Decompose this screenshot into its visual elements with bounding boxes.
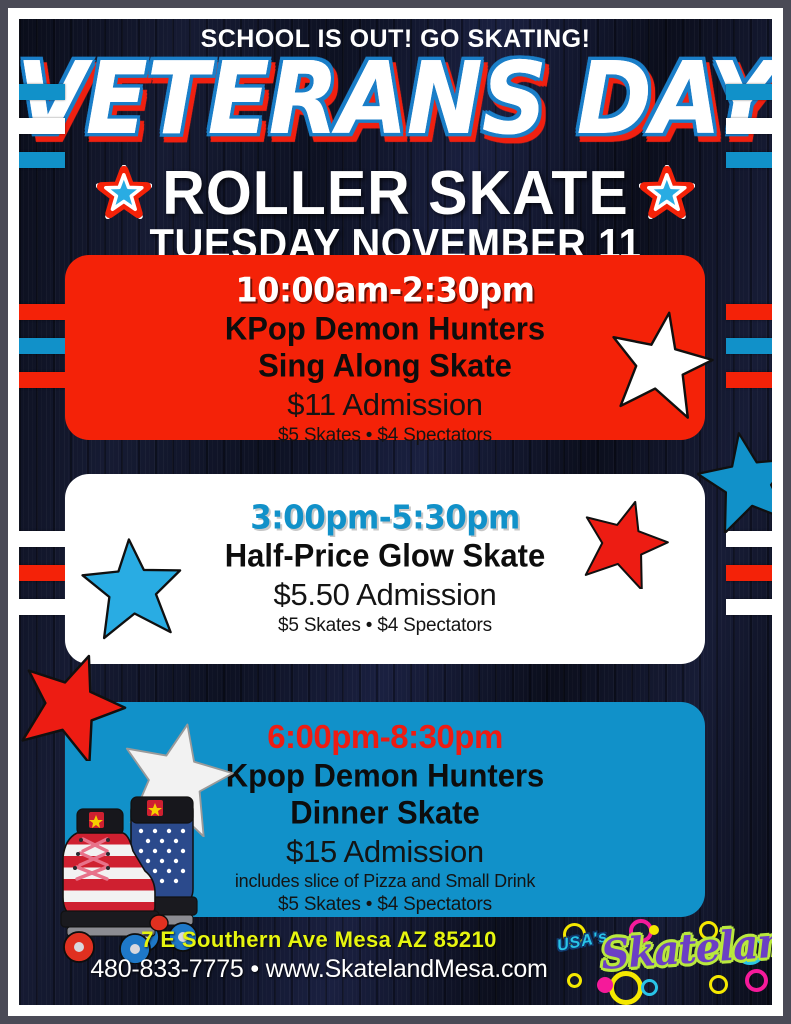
star-badge-right-icon — [639, 165, 695, 221]
stripe — [19, 599, 65, 615]
session-time: 10:00am-2:30pm — [65, 270, 705, 310]
session-sub: $5 Skates • $4 Spectators — [65, 425, 705, 447]
stripe — [726, 372, 772, 388]
logo-bubble-icon — [567, 973, 582, 988]
stripe — [19, 531, 65, 547]
stripe — [726, 565, 772, 581]
subtitle-roller-skate: ROLLER SKATE — [162, 157, 629, 228]
logo-bubble-icon — [641, 979, 658, 996]
logo-bubble-icon — [597, 977, 613, 993]
star-red-right-icon — [579, 497, 671, 589]
stripe — [19, 304, 65, 320]
stripes-top-right — [726, 84, 772, 168]
stripe — [726, 304, 772, 320]
stripe — [19, 84, 65, 100]
stripe — [19, 372, 65, 388]
star-blue-left-icon — [81, 535, 187, 641]
poster-root: SCHOOL IS OUT! GO SKATING! VETERANS DAY … — [0, 0, 791, 1024]
star-badge-left-icon — [96, 165, 152, 221]
star-red-left-icon — [19, 649, 129, 761]
roller-skate-row: ROLLER SKATE — [19, 159, 772, 227]
stripes-mid-left — [19, 304, 65, 388]
stripe — [19, 565, 65, 581]
stripe — [726, 152, 772, 168]
logo-bubble-icon — [745, 969, 768, 992]
stripe — [726, 118, 772, 134]
stripe — [726, 531, 772, 547]
venue-contact[interactable]: 480-833-7775 • www.SkatelandMesa.com — [69, 955, 569, 984]
poster-board-background: SCHOOL IS OUT! GO SKATING! VETERANS DAY … — [19, 19, 772, 1005]
skateland-logo[interactable]: USA's Skateland — [549, 919, 764, 991]
logo-name-text: Skateland — [600, 917, 772, 980]
poster-footer: 7 E Southern Ave Mesa AZ 85210 480-833-7… — [19, 919, 772, 997]
venue-address: 7 E Southern Ave Mesa AZ 85210 — [79, 927, 559, 953]
stripes-bottom-right — [726, 531, 772, 615]
star-blue-large-icon — [697, 429, 772, 533]
stripes-bottom-left — [19, 531, 65, 615]
stripe — [19, 338, 65, 354]
stripe — [726, 599, 772, 615]
stripes-top-left — [19, 84, 65, 168]
logo-bubble-icon — [709, 975, 728, 994]
stripe — [726, 84, 772, 100]
stripe — [726, 338, 772, 354]
stripe — [19, 118, 65, 134]
page-title: VETERANS DAY — [19, 49, 772, 149]
star-white-red-panel-icon — [607, 309, 717, 419]
stripes-mid-right — [726, 304, 772, 388]
stripe — [19, 152, 65, 168]
